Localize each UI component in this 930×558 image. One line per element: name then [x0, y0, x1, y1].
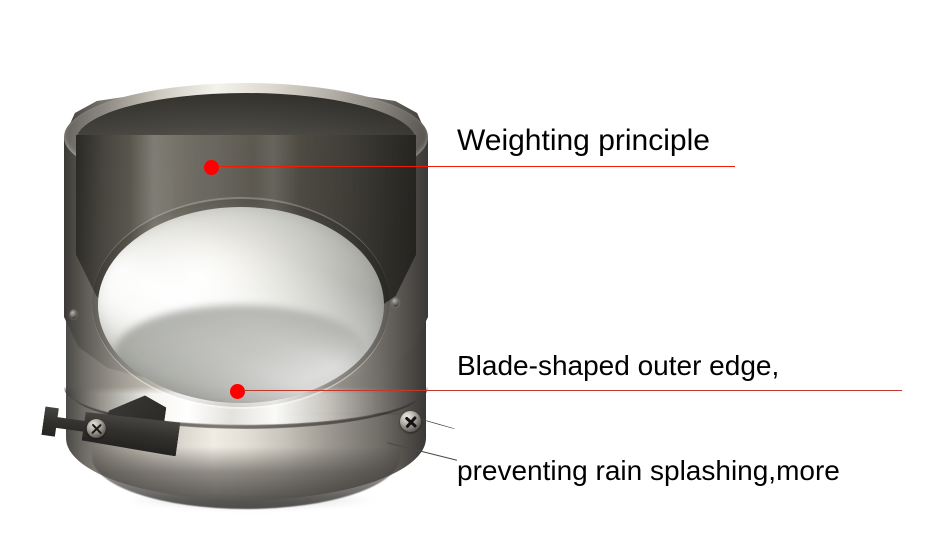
callout-leader-line-weighting-principle [218, 166, 735, 167]
callout-label-line: preventing rain splashing,more [457, 453, 840, 488]
callout-label-blade-shaped-outer-edge: Blade-shaped outer edge, preventing rain… [457, 278, 840, 558]
rivet-right [392, 298, 399, 307]
callout-label-weighting-principle: Weighting principle [457, 122, 710, 160]
callout-label-line: Blade-shaped outer edge, [457, 348, 840, 383]
callout-dot-weighting-principle [204, 160, 219, 175]
wire-clip [417, 418, 456, 430]
wire-clip [387, 442, 457, 460]
bowl-floor-ring [92, 197, 390, 409]
product-image [40, 55, 440, 465]
phillips-screw-icon [400, 411, 421, 432]
mounting-bracket-left [37, 382, 184, 488]
callout-dot-blade-shaped-outer-edge [230, 384, 245, 399]
product-annotation-canvas: Weighting principle Blade-shaped outer e… [0, 0, 930, 558]
rivet-left [70, 310, 77, 319]
